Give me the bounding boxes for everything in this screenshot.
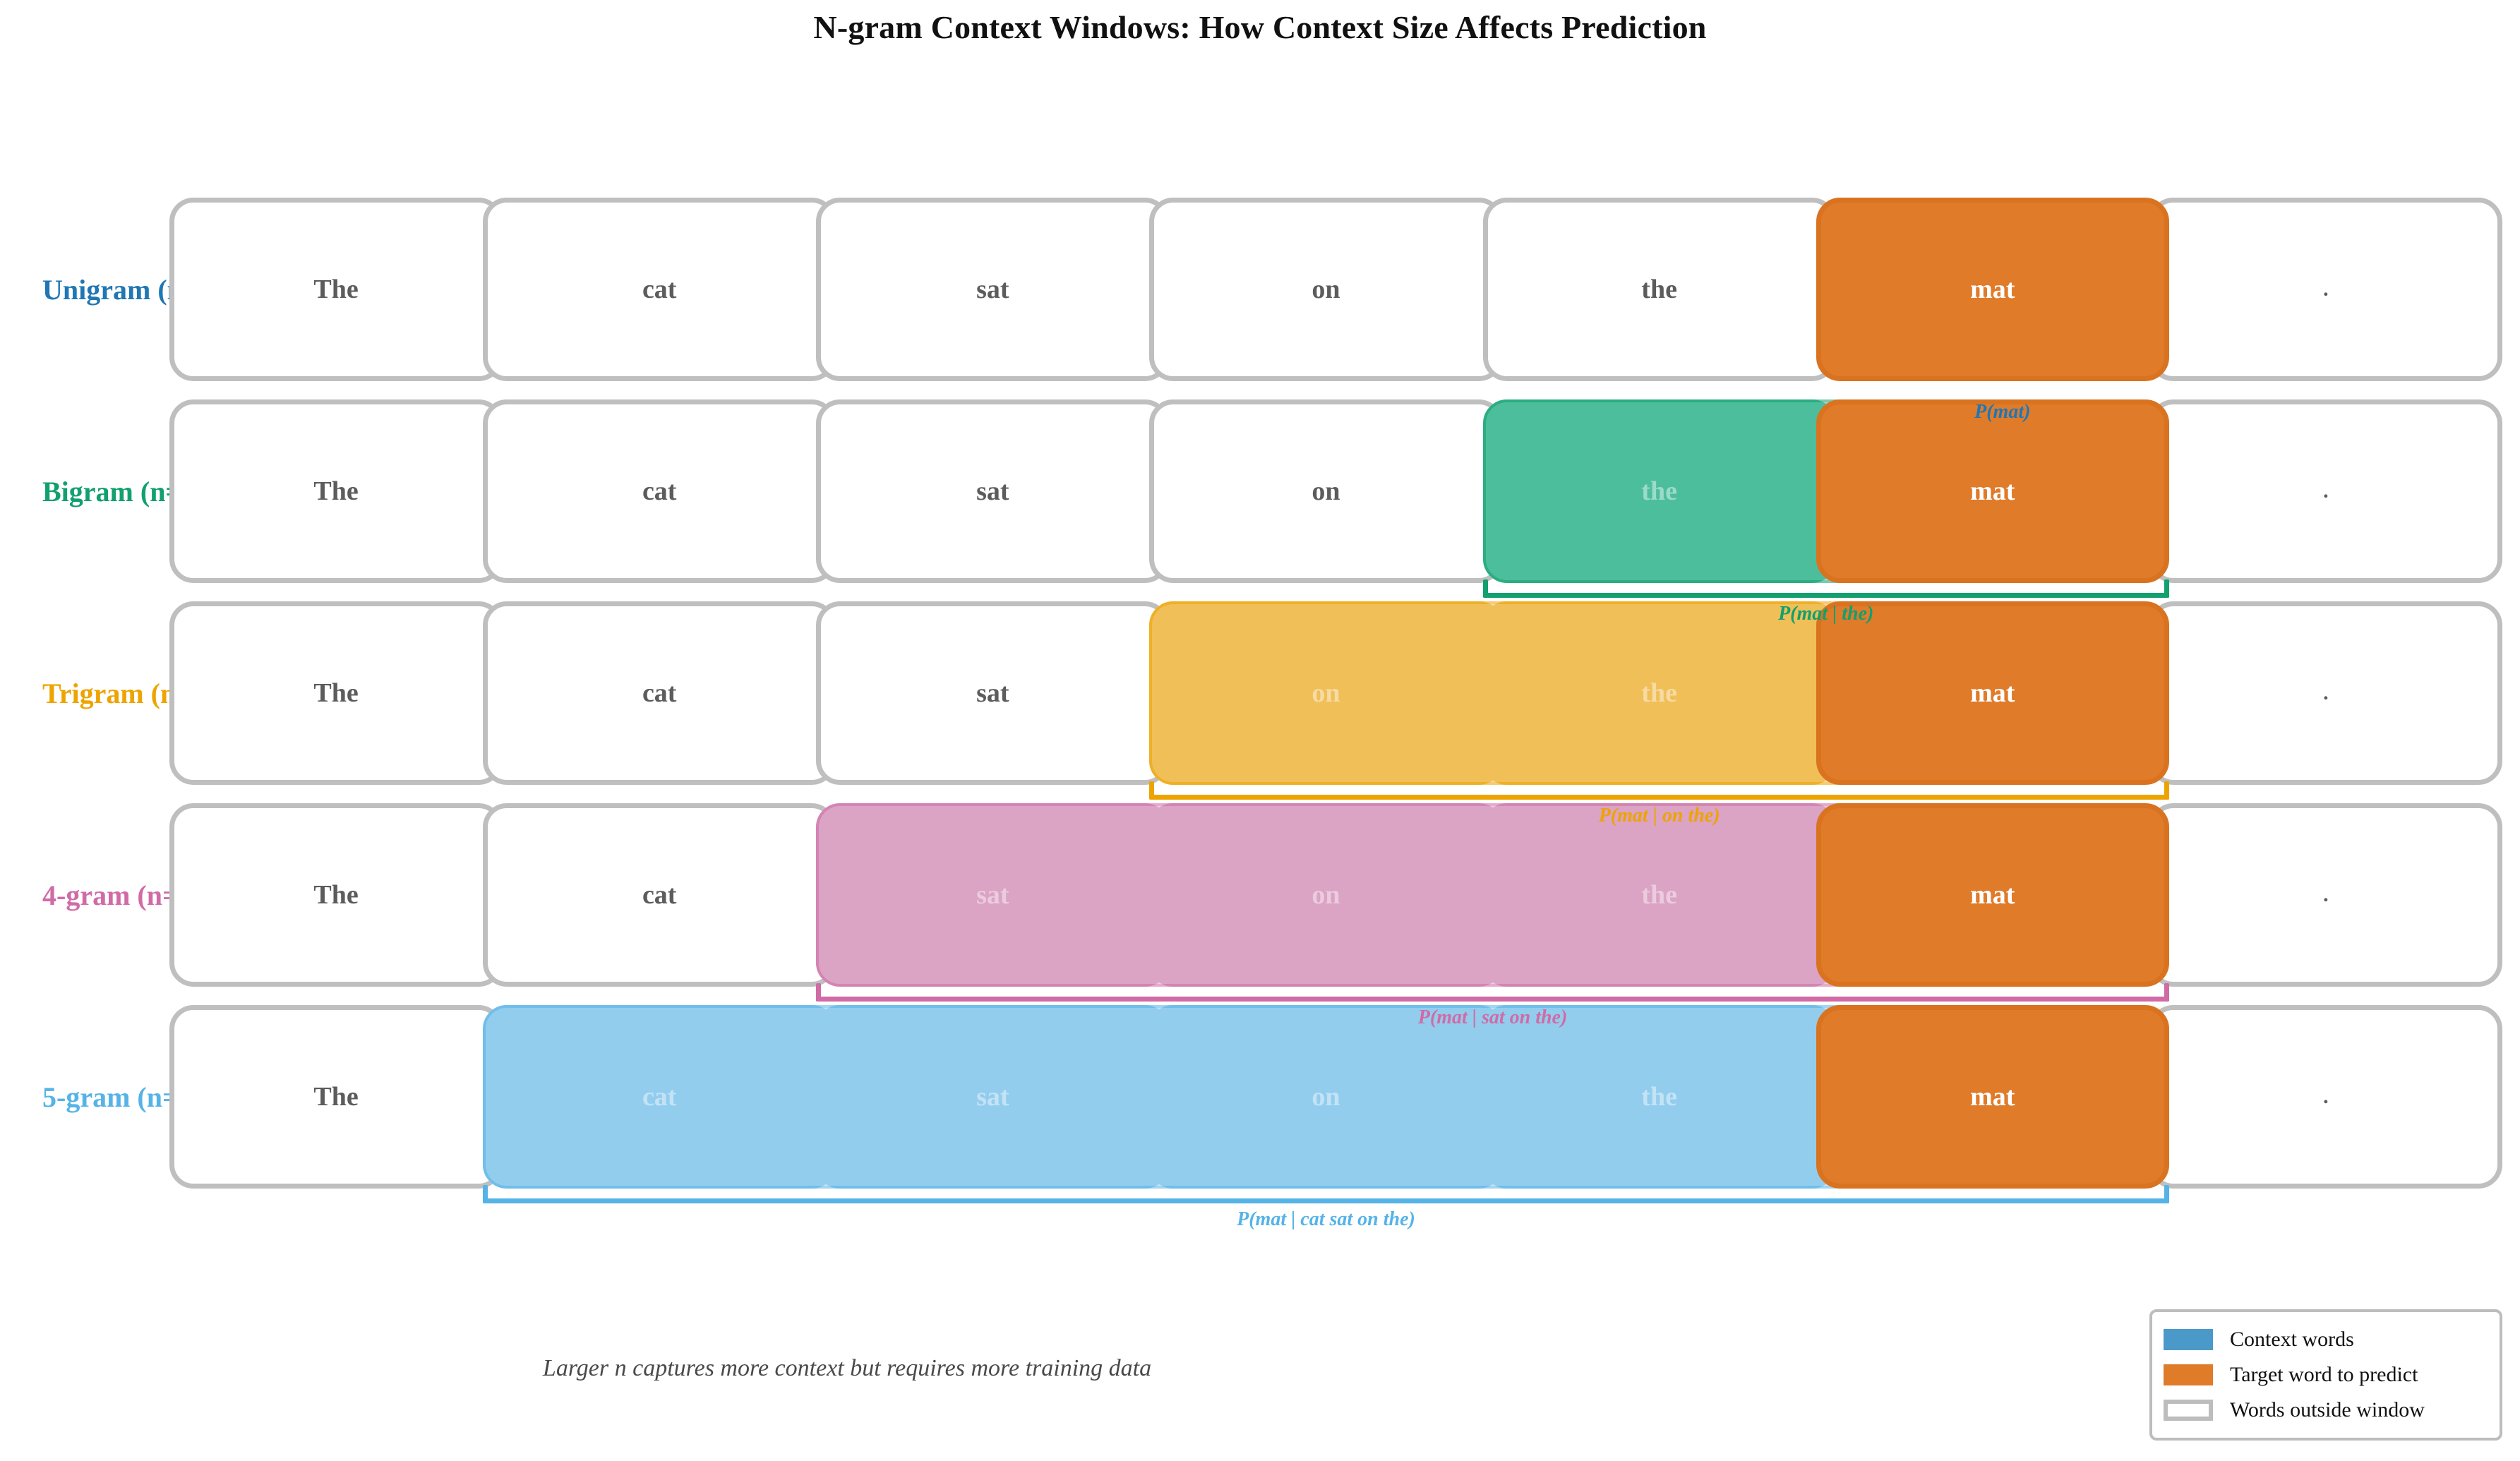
ngram-row: 4-gram (n=4)Thecatsatonthemat.P(mat | sa…: [0, 803, 2520, 1015]
word-cell-context: the: [1483, 399, 1836, 583]
word-text: The: [313, 879, 358, 910]
probability-label: P(mat | sat on the): [816, 1006, 2169, 1029]
word-text: .: [2323, 883, 2329, 907]
word-text: The: [313, 1081, 358, 1112]
word-cell-target: mat: [1816, 1005, 2169, 1189]
figure-caption: Larger n captures more context but requi…: [0, 1355, 1694, 1382]
bracket-tl: [1483, 579, 1488, 598]
word-cell-target: mat: [1816, 803, 2169, 987]
context-swatch: [2164, 1329, 2213, 1350]
ngram-row: Trigram (n=3)Thecatsatonthemat.P(mat | o…: [0, 601, 2520, 813]
word-cell-context: the: [1483, 601, 1836, 785]
bracket-tr: [2164, 1185, 2169, 1203]
word-cell-context: sat: [816, 803, 1169, 987]
word-cell-context: on: [1149, 803, 1502, 987]
word-cell-outside: .: [2149, 1005, 2502, 1189]
word-cell-outside: .: [2149, 399, 2502, 583]
context-bracket: [816, 983, 2169, 1002]
word-text: cat: [642, 879, 677, 910]
word-cell-outside: on: [1149, 198, 1502, 381]
word-text: .: [2323, 1085, 2329, 1109]
word-text: The: [313, 476, 358, 507]
legend-label: Context words: [2230, 1328, 2354, 1352]
word-text: the: [1641, 678, 1677, 709]
word-text: cat: [642, 678, 677, 709]
word-cell-outside: on: [1149, 399, 1502, 583]
probability-label: P(mat): [1836, 401, 2169, 423]
word-text: cat: [642, 476, 677, 507]
legend-item: Target word to predict: [2164, 1357, 2488, 1393]
word-text: on: [1312, 476, 1340, 507]
sentence-strip: Thecatsatonthemat.: [169, 399, 2502, 583]
legend-item: Context words: [2164, 1322, 2488, 1357]
ngram-row: 5-gram (n=5)Thecatsatonthemat.P(mat | ca…: [0, 1005, 2520, 1217]
word-text: the: [1641, 274, 1677, 305]
word-cell-outside: the: [1483, 198, 1836, 381]
word-cell-outside: sat: [816, 198, 1169, 381]
bracket-tr: [2164, 781, 2169, 800]
word-cell-context: cat: [483, 1005, 836, 1189]
bracket-bar: [483, 1198, 2169, 1203]
word-cell-target: mat: [1816, 601, 2169, 785]
word-cell-outside: The: [169, 1005, 503, 1189]
word-cell-context: the: [1483, 803, 1836, 987]
bracket-tl: [1149, 781, 1154, 800]
word-text: .: [2323, 277, 2329, 301]
context-bracket: [1483, 579, 2169, 598]
word-cell-outside: .: [2149, 198, 2502, 381]
word-text: on: [1312, 879, 1340, 910]
word-text: sat: [976, 678, 1009, 709]
probability-label: P(mat | the): [1483, 603, 2169, 625]
legend-label: Words outside window: [2230, 1398, 2425, 1422]
word-text: sat: [976, 879, 1009, 910]
word-text: .: [2323, 479, 2329, 503]
word-text: mat: [1970, 678, 2015, 709]
word-cell-outside: cat: [483, 198, 836, 381]
legend-label: Target word to predict: [2230, 1363, 2418, 1387]
word-text: mat: [1970, 476, 2015, 507]
word-text: cat: [642, 274, 677, 305]
word-text: mat: [1970, 879, 2015, 910]
word-cell-target: mat: [1816, 399, 2169, 583]
word-text: the: [1641, 476, 1677, 507]
word-cell-context: on: [1149, 601, 1502, 785]
sentence-strip: Thecatsatonthemat.: [169, 1005, 2502, 1189]
word-text: on: [1312, 274, 1340, 305]
word-cell-outside: The: [169, 399, 503, 583]
ngram-row: Unigram (n=1)Thecatsatonthemat.P(mat): [0, 198, 2520, 409]
bracket-bar: [816, 997, 2169, 1002]
word-text: on: [1312, 1081, 1340, 1112]
word-text: .: [2323, 681, 2329, 705]
target-swatch: [2164, 1364, 2213, 1385]
page-title: N-gram Context Windows: How Context Size…: [0, 8, 2520, 46]
word-cell-outside: The: [169, 601, 503, 785]
word-cell-outside: .: [2149, 601, 2502, 785]
bracket-tl: [483, 1185, 488, 1203]
word-text: mat: [1970, 1081, 2015, 1112]
word-text: mat: [1970, 274, 2015, 305]
word-cell-outside: The: [169, 198, 503, 381]
probability-label: P(mat | cat sat on the): [483, 1208, 2169, 1231]
word-text: the: [1641, 1081, 1677, 1112]
word-cell-outside: .: [2149, 803, 2502, 987]
word-cell-target: mat: [1816, 198, 2169, 381]
bracket-bar: [1149, 795, 2168, 800]
word-cell-outside: cat: [483, 601, 836, 785]
ngram-row: Bigram (n=2)Thecatsatonthemat.P(mat | th…: [0, 399, 2520, 611]
word-text: cat: [642, 1081, 677, 1112]
word-cell-outside: sat: [816, 399, 1169, 583]
word-cell-context: the: [1483, 1005, 1836, 1189]
word-text: sat: [976, 274, 1009, 305]
bracket-bar: [1483, 593, 2169, 598]
legend: Context words Target word to predict Wor…: [2149, 1309, 2502, 1441]
word-cell-outside: The: [169, 803, 503, 987]
word-cell-outside: cat: [483, 399, 836, 583]
sentence-strip: Thecatsatonthemat.: [169, 601, 2502, 785]
context-bracket: [1149, 781, 2168, 800]
word-cell-outside: sat: [816, 601, 1169, 785]
sentence-strip: Thecatsatonthemat.: [169, 198, 2502, 381]
word-text: on: [1312, 678, 1340, 709]
word-text: the: [1641, 879, 1677, 910]
word-cell-outside: cat: [483, 803, 836, 987]
context-bracket: [483, 1185, 2169, 1203]
sentence-strip: Thecatsatonthemat.: [169, 803, 2502, 987]
word-cell-context: sat: [816, 1005, 1169, 1189]
word-text: sat: [976, 476, 1009, 507]
probability-label: P(mat | on the): [1149, 805, 2168, 827]
word-text: The: [313, 274, 358, 305]
bracket-tr: [2164, 579, 2169, 598]
outside-swatch: [2164, 1400, 2213, 1421]
bracket-tr: [2164, 983, 2169, 1002]
legend-item: Words outside window: [2164, 1393, 2488, 1428]
word-text: sat: [976, 1081, 1009, 1112]
bracket-tl: [816, 983, 821, 1002]
word-cell-context: on: [1149, 1005, 1502, 1189]
word-text: The: [313, 678, 358, 709]
